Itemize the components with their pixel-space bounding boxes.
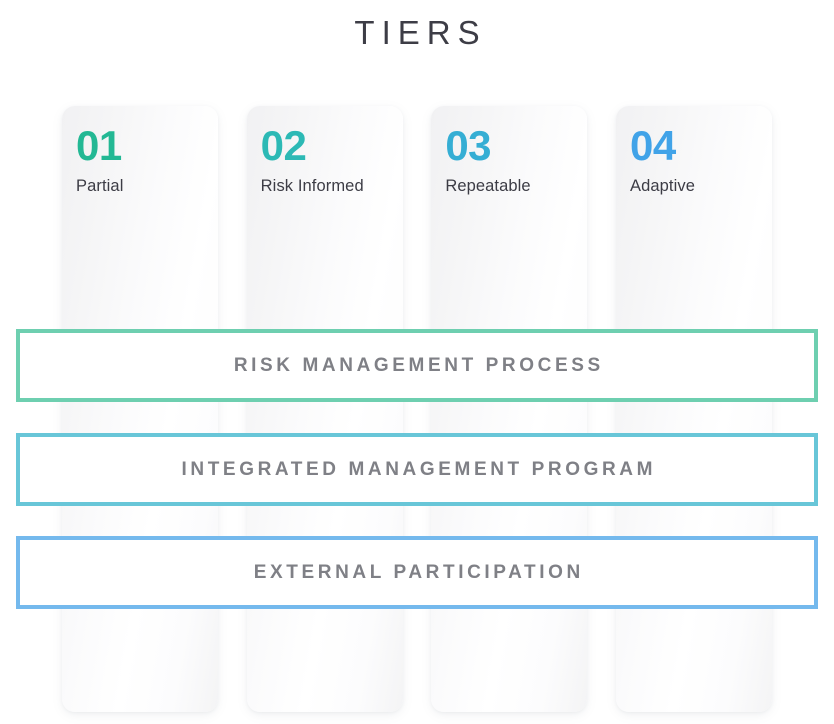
tier-label-adaptive: Adaptive [630,177,695,196]
page-title: TIERS [0,14,834,52]
bar-label-integrated-management-program: INTEGRATED MANAGEMENT PROGRAM [178,459,656,481]
tier-card-partial[interactable]: 01 Partial [62,106,218,712]
tier-card-adaptive[interactable]: 04 Adaptive [616,106,772,712]
tier-label-risk-informed: Risk Informed [261,177,364,196]
tier-number-01: 01 [76,125,122,167]
tier-number-03: 03 [445,125,491,167]
tier-number-02: 02 [261,125,307,167]
tier-card-risk-informed[interactable]: 02 Risk Informed [247,106,403,712]
tier-label-repeatable: Repeatable [445,177,530,196]
tier-card-repeatable[interactable]: 03 Repeatable [431,106,587,712]
bar-label-external-participation: EXTERNAL PARTICIPATION [250,562,584,584]
bar-external-participation[interactable]: EXTERNAL PARTICIPATION [16,536,818,609]
bar-integrated-management-program[interactable]: INTEGRATED MANAGEMENT PROGRAM [16,433,818,506]
tier-label-partial: Partial [76,177,123,196]
bar-label-risk-management-process: RISK MANAGEMENT PROCESS [230,355,604,377]
bar-risk-management-process[interactable]: RISK MANAGEMENT PROCESS [16,329,818,402]
tiers-infographic: TIERS 01 Partial 02 Risk Informed 03 Rep… [0,0,834,724]
tier-number-04: 04 [630,125,676,167]
tier-cards-row: 01 Partial 02 Risk Informed 03 Repeatabl… [62,106,772,712]
